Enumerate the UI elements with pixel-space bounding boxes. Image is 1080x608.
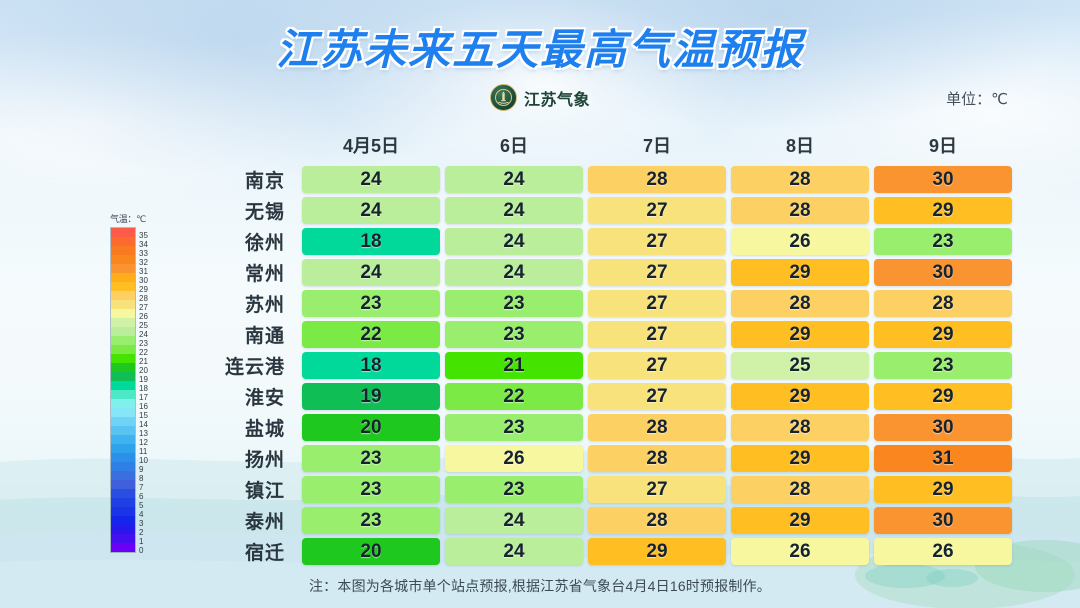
temperature-cell: 26 <box>731 228 869 255</box>
city-label: 苏州 <box>201 290 297 317</box>
legend-swatch <box>111 363 135 372</box>
city-label: 盐城 <box>201 414 297 441</box>
legend-swatch <box>111 228 135 237</box>
legend-tick: 32 <box>139 258 148 267</box>
temperature-cell: 21 <box>445 352 583 379</box>
temperature-cell: 24 <box>445 197 583 224</box>
legend-swatch <box>111 507 135 516</box>
table-row: 扬州2326282931 <box>201 445 1012 472</box>
legend-swatch <box>111 534 135 543</box>
column-header-day-4: 8日 <box>731 132 869 162</box>
footnote: 注：本图为各城市单个站点预报,根据江苏省气象台4月4日16时预报制作。 <box>0 576 1080 596</box>
legend-swatch <box>111 408 135 417</box>
legend-tick: 12 <box>139 438 148 447</box>
legend-swatch <box>111 498 135 507</box>
temperature-cell: 30 <box>874 259 1012 286</box>
temperature-cell: 28 <box>588 507 726 534</box>
temperature-cell: 27 <box>588 352 726 379</box>
temperature-cell: 29 <box>874 476 1012 503</box>
legend-title: 气温：℃ <box>110 212 148 225</box>
temperature-cell: 26 <box>445 445 583 472</box>
legend-tick: 16 <box>139 402 148 411</box>
temperature-cell: 23 <box>445 476 583 503</box>
legend-tick: 13 <box>139 429 148 438</box>
temperature-cell: 28 <box>731 290 869 317</box>
temperature-cell: 27 <box>588 383 726 410</box>
temperature-cell: 27 <box>588 476 726 503</box>
legend-tick: 6 <box>139 492 148 501</box>
temperature-cell: 28 <box>731 476 869 503</box>
legend-swatch <box>111 318 135 327</box>
city-label: 无锡 <box>201 197 297 224</box>
table-row: 淮安1922272929 <box>201 383 1012 410</box>
legend-swatch <box>111 327 135 336</box>
legend-tick: 24 <box>139 330 148 339</box>
legend-tick: 0 <box>139 546 148 555</box>
city-label: 镇江 <box>201 476 297 503</box>
tower-emblem-icon <box>490 84 517 111</box>
temperature-cell: 29 <box>731 445 869 472</box>
legend-swatch <box>111 291 135 300</box>
temperature-cell: 29 <box>731 259 869 286</box>
legend-tick: 11 <box>139 447 148 456</box>
legend-tick: 8 <box>139 474 148 483</box>
legend-swatch <box>111 255 135 264</box>
legend-swatch <box>111 354 135 363</box>
table-row: 南京2424282830 <box>201 166 1012 193</box>
temperature-cell: 23 <box>445 290 583 317</box>
column-header-day-2: 6日 <box>445 132 583 162</box>
temperature-cell: 23 <box>302 476 440 503</box>
city-label: 宿迁 <box>201 538 297 565</box>
table-header-row: 4月5日6日7日8日9日 <box>201 132 1012 162</box>
legend-tick: 33 <box>139 249 148 258</box>
legend-tick: 7 <box>139 483 148 492</box>
unit-label: 单位：℃ <box>946 88 1008 109</box>
temperature-cell: 29 <box>731 321 869 348</box>
temperature-cell: 27 <box>588 197 726 224</box>
legend-swatch <box>111 264 135 273</box>
legend-swatch <box>111 300 135 309</box>
legend-swatch <box>111 390 135 399</box>
city-label: 泰州 <box>201 507 297 534</box>
legend-swatch <box>111 426 135 435</box>
logo-label: 江苏气象 <box>524 86 590 110</box>
temperature-cell: 23 <box>874 352 1012 379</box>
legend-swatch <box>111 309 135 318</box>
legend-swatch <box>111 237 135 246</box>
table-row: 无锡2424272829 <box>201 197 1012 224</box>
temperature-cell: 23 <box>445 414 583 441</box>
legend-tick-labels: 3534333231302928272625242322212019181716… <box>139 227 148 555</box>
temperature-cell: 28 <box>731 414 869 441</box>
temperature-cell: 31 <box>874 445 1012 472</box>
title-container: 江苏未来五天最高气温预报 <box>0 16 1080 77</box>
table-corner-cell <box>201 132 297 162</box>
temperature-cell: 23 <box>874 228 1012 255</box>
legend-swatch <box>111 453 135 462</box>
legend-swatch <box>111 399 135 408</box>
temperature-cell: 28 <box>588 445 726 472</box>
legend-swatch <box>111 336 135 345</box>
temperature-cell: 19 <box>302 383 440 410</box>
legend-tick: 9 <box>139 465 148 474</box>
legend-tick: 27 <box>139 303 148 312</box>
table-row: 宿迁2024292626 <box>201 538 1012 565</box>
legend-tick: 28 <box>139 294 148 303</box>
temperature-cell: 24 <box>302 197 440 224</box>
legend-swatch <box>111 381 135 390</box>
legend-tick: 15 <box>139 411 148 420</box>
temperature-cell: 29 <box>874 321 1012 348</box>
legend-tick: 18 <box>139 384 148 393</box>
legend-swatch <box>111 462 135 471</box>
legend-tick: 25 <box>139 321 148 330</box>
temperature-cell: 24 <box>445 538 583 565</box>
legend-tick: 26 <box>139 312 148 321</box>
column-header-day-5: 9日 <box>874 132 1012 162</box>
temperature-cell: 25 <box>731 352 869 379</box>
forecast-table: 4月5日6日7日8日9日 南京2424282830无锡2424272829徐州1… <box>196 128 1017 569</box>
table-row: 镇江2323272829 <box>201 476 1012 503</box>
temperature-cell: 24 <box>302 166 440 193</box>
temperature-cell: 28 <box>731 197 869 224</box>
city-label: 南京 <box>201 166 297 193</box>
temperature-cell: 23 <box>302 507 440 534</box>
legend-swatch <box>111 435 135 444</box>
legend-tick: 4 <box>139 510 148 519</box>
temperature-cell: 30 <box>874 414 1012 441</box>
temperature-cell: 24 <box>445 228 583 255</box>
column-header-day-3: 7日 <box>588 132 726 162</box>
legend-swatch <box>111 480 135 489</box>
temperature-cell: 28 <box>588 414 726 441</box>
legend-tick: 31 <box>139 267 148 276</box>
city-label: 南通 <box>201 321 297 348</box>
legend-tick: 23 <box>139 339 148 348</box>
legend-swatch <box>111 345 135 354</box>
table-row: 常州2424272930 <box>201 259 1012 286</box>
table-row: 盐城2023282830 <box>201 414 1012 441</box>
legend-swatch <box>111 417 135 426</box>
temperature-cell: 27 <box>588 290 726 317</box>
page-title: 江苏未来五天最高气温预报 <box>276 16 804 77</box>
table-row: 徐州1824272623 <box>201 228 1012 255</box>
temperature-cell: 28 <box>874 290 1012 317</box>
legend-swatch <box>111 525 135 534</box>
legend-tick: 14 <box>139 420 148 429</box>
legend-tick: 19 <box>139 375 148 384</box>
city-label: 常州 <box>201 259 297 286</box>
legend-swatch <box>111 273 135 282</box>
table-body: 南京2424282830无锡2424272829徐州1824272623常州24… <box>201 166 1012 565</box>
temperature-cell: 27 <box>588 259 726 286</box>
temperature-cell: 30 <box>874 166 1012 193</box>
temperature-cell: 18 <box>302 352 440 379</box>
table-row: 南通2223272929 <box>201 321 1012 348</box>
legend-tick: 2 <box>139 528 148 537</box>
legend-tick: 34 <box>139 240 148 249</box>
temperature-cell: 24 <box>445 507 583 534</box>
legend-tick: 22 <box>139 348 148 357</box>
table-row: 泰州2324282930 <box>201 507 1012 534</box>
legend-tick: 10 <box>139 456 148 465</box>
temperature-cell: 24 <box>445 259 583 286</box>
legend-tick: 5 <box>139 501 148 510</box>
legend-swatch <box>111 471 135 480</box>
temperature-cell: 24 <box>445 166 583 193</box>
temperature-cell: 23 <box>302 290 440 317</box>
legend-swatch <box>111 543 135 552</box>
legend-swatch <box>111 444 135 453</box>
brand-logo: 江苏气象 <box>0 84 1080 111</box>
legend-swatch <box>111 516 135 525</box>
temperature-cell: 24 <box>302 259 440 286</box>
legend-swatch <box>111 372 135 381</box>
temperature-cell: 29 <box>731 507 869 534</box>
legend-swatch <box>111 246 135 255</box>
temperature-cell: 27 <box>588 228 726 255</box>
legend-tick: 1 <box>139 537 148 546</box>
legend-swatch <box>111 489 135 498</box>
legend-tick: 35 <box>139 231 148 240</box>
city-label: 扬州 <box>201 445 297 472</box>
column-header-day-1: 4月5日 <box>302 132 440 162</box>
city-label: 徐州 <box>201 228 297 255</box>
legend-colorbar <box>110 227 136 553</box>
temperature-cell: 27 <box>588 321 726 348</box>
temperature-cell: 29 <box>588 538 726 565</box>
legend-tick: 17 <box>139 393 148 402</box>
temperature-cell: 30 <box>874 507 1012 534</box>
temperature-cell: 29 <box>874 383 1012 410</box>
temperature-cell: 20 <box>302 414 440 441</box>
temperature-cell: 28 <box>588 166 726 193</box>
city-label: 连云港 <box>201 352 297 379</box>
legend-tick: 21 <box>139 357 148 366</box>
temperature-cell: 28 <box>731 166 869 193</box>
city-label: 淮安 <box>201 383 297 410</box>
temperature-cell: 26 <box>874 538 1012 565</box>
temperature-cell: 23 <box>302 445 440 472</box>
legend-tick: 29 <box>139 285 148 294</box>
temperature-cell: 20 <box>302 538 440 565</box>
temperature-cell: 22 <box>302 321 440 348</box>
temperature-cell: 18 <box>302 228 440 255</box>
temperature-legend: 气温：℃ 35343332313029282726252423222120191… <box>110 212 148 555</box>
temperature-cell: 29 <box>731 383 869 410</box>
table-row: 苏州2323272828 <box>201 290 1012 317</box>
temperature-cell: 23 <box>445 321 583 348</box>
legend-tick: 30 <box>139 276 148 285</box>
legend-tick: 20 <box>139 366 148 375</box>
temperature-cell: 29 <box>874 197 1012 224</box>
legend-tick: 3 <box>139 519 148 528</box>
table-row: 连云港1821272523 <box>201 352 1012 379</box>
legend-swatch <box>111 282 135 291</box>
temperature-cell: 22 <box>445 383 583 410</box>
temperature-cell: 26 <box>731 538 869 565</box>
